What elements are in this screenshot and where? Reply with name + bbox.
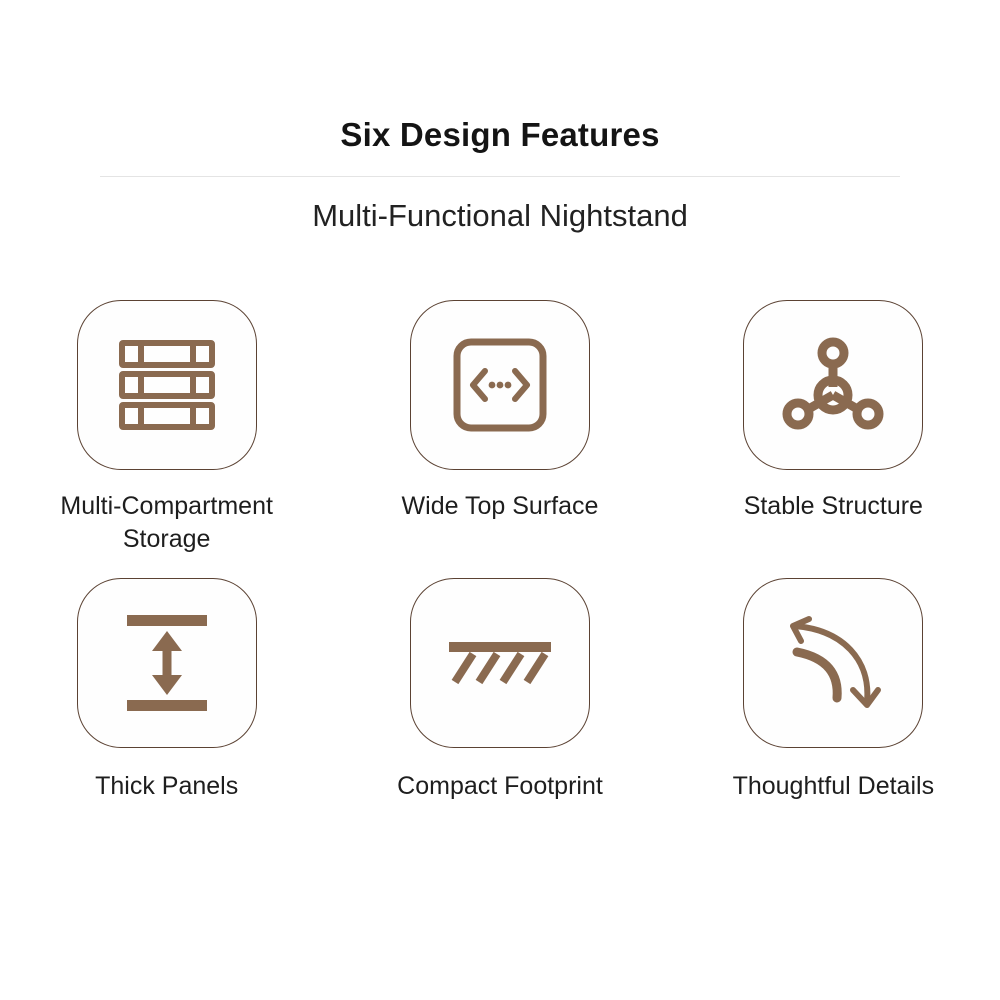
multi-compartment-storage-icon bbox=[117, 337, 217, 433]
feature-label: Multi-Compartment Storage bbox=[17, 490, 317, 556]
stable-structure-icon bbox=[781, 335, 885, 435]
thick-panels-icon bbox=[121, 611, 213, 715]
feature-label: Wide Top Surface bbox=[350, 490, 650, 523]
page-subtitle: Multi-Functional Nightstand bbox=[0, 177, 1000, 234]
wide-top-surface-icon bbox=[452, 337, 548, 433]
page-title: Six Design Features bbox=[0, 0, 1000, 154]
feature-grid: Multi-Compartment Storage Wide Top Surfa… bbox=[0, 300, 1000, 803]
icon-card-wide-top-surface bbox=[410, 300, 590, 470]
feature-item-multi-compartment-storage: Multi-Compartment Storage bbox=[0, 300, 333, 556]
feature-item-compact-footprint: Compact Footprint bbox=[333, 578, 666, 803]
feature-label: Compact Footprint bbox=[350, 770, 650, 803]
thoughtful-details-icon bbox=[779, 610, 887, 716]
feature-item-thoughtful-details: Thoughtful Details bbox=[667, 578, 1000, 803]
icon-card-thick-panels bbox=[77, 578, 257, 748]
compact-footprint-icon bbox=[445, 628, 555, 698]
feature-label: Thoughtful Details bbox=[683, 770, 983, 803]
feature-item-thick-panels: Thick Panels bbox=[0, 578, 333, 803]
feature-infographic-page: Six Design Features Multi-Functional Nig… bbox=[0, 0, 1000, 1000]
feature-label: Stable Structure bbox=[683, 490, 983, 523]
icon-card-thoughtful-details bbox=[743, 578, 923, 748]
feature-item-stable-structure: Stable Structure bbox=[667, 300, 1000, 556]
icon-card-stable-structure bbox=[743, 300, 923, 470]
icon-card-compact-footprint bbox=[410, 578, 590, 748]
feature-item-wide-top-surface: Wide Top Surface bbox=[333, 300, 666, 556]
feature-label: Thick Panels bbox=[17, 770, 317, 803]
page-header: Six Design Features Multi-Functional Nig… bbox=[0, 0, 1000, 234]
icon-card-multi-compartment-storage bbox=[77, 300, 257, 470]
